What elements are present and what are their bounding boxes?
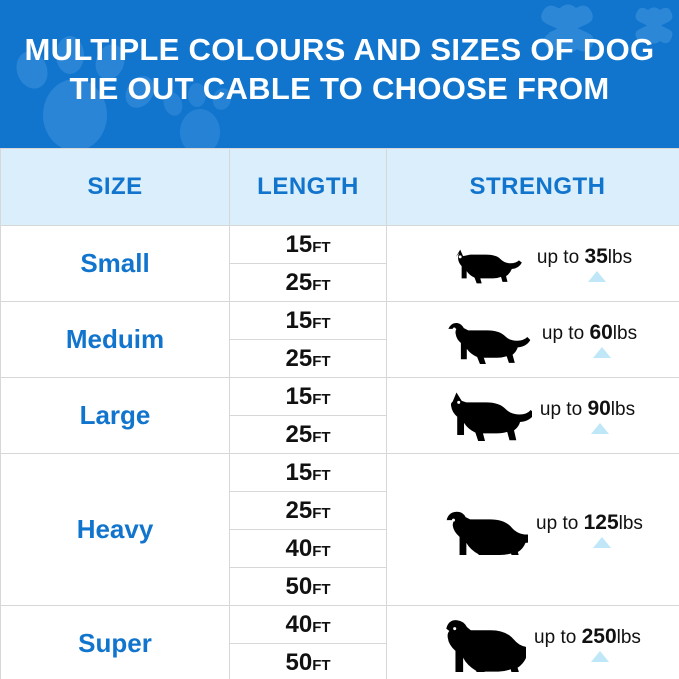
arrow-holder	[537, 269, 632, 282]
length-unit: FT	[312, 239, 330, 256]
strength-cell-heavy: up to 125lbs	[387, 454, 679, 606]
strength-prefix: up to	[536, 513, 584, 534]
length-value: 15	[285, 307, 312, 334]
strength-cell-small: up to 35lbs	[387, 226, 679, 302]
table-row: Small 15FT up to 35lbs	[1, 226, 679, 264]
size-label-small: Small	[1, 226, 230, 302]
strength-prefix: up to	[534, 627, 582, 648]
length-unit: FT	[312, 353, 330, 370]
table-header-row: SIZE LENGTH STRENGTH	[1, 149, 679, 226]
arrow-up-icon	[588, 271, 606, 282]
length-unit: FT	[312, 391, 330, 408]
length-cell: 15FT	[230, 378, 387, 416]
strength-unit: lbs	[608, 247, 632, 268]
header-banner: MULTIPLE COLOURS AND SIZES OF DOG TIE OU…	[0, 0, 679, 148]
strength-unit: lbs	[611, 399, 635, 420]
length-cell: 25FT	[230, 416, 387, 454]
table-row: Heavy 15FT up to 125lbs	[1, 454, 679, 492]
strength-text: up to 60lbs	[542, 321, 637, 345]
length-value: 15	[285, 231, 312, 258]
strength-unit: lbs	[613, 323, 637, 344]
strength-weight: 90	[587, 397, 610, 420]
length-cell: 25FT	[230, 340, 387, 378]
length-value: 25	[285, 421, 312, 448]
length-value: 15	[285, 459, 312, 486]
infographic-page: MULTIPLE COLOURS AND SIZES OF DOG TIE OU…	[0, 0, 679, 679]
medium-dog-icon	[438, 316, 534, 364]
strength-prefix: up to	[540, 399, 588, 420]
size-label-super: Super	[1, 606, 230, 679]
strength-value-wrap: up to 60lbs	[542, 321, 637, 358]
column-header-size: SIZE	[1, 149, 230, 226]
table-head: SIZE LENGTH STRENGTH	[1, 149, 679, 226]
strength-weight: 60	[589, 321, 612, 344]
strength-unit: lbs	[617, 627, 641, 648]
strength-weight: 35	[584, 245, 607, 268]
length-unit: FT	[312, 505, 330, 522]
length-cell: 40FT	[230, 606, 387, 644]
strength-cell-super: up to 250lbs	[387, 606, 679, 679]
length-unit: FT	[312, 619, 330, 636]
length-cell: 15FT	[230, 454, 387, 492]
arrow-holder	[536, 535, 643, 548]
table-body: Small 15FT up to 35lbs	[1, 226, 679, 679]
length-value: 50	[285, 649, 312, 676]
strength-cell-large: up to 90lbs	[387, 378, 679, 454]
length-cell: 25FT	[230, 492, 387, 530]
table-row: Large 15FT up to 90lbs	[1, 378, 679, 416]
strength-unit: lbs	[619, 513, 643, 534]
strength-value-wrap: up to 125lbs	[536, 511, 643, 548]
size-label-large: Large	[1, 378, 230, 454]
strength-text: up to 250lbs	[534, 625, 641, 649]
strength-value-wrap: up to 90lbs	[540, 397, 635, 434]
length-unit: FT	[312, 657, 330, 674]
length-cell: 50FT	[230, 568, 387, 606]
length-cell: 25FT	[230, 264, 387, 302]
strength-weight: 250	[582, 625, 617, 648]
length-unit: FT	[312, 467, 330, 484]
strength-text: up to 90lbs	[540, 397, 635, 421]
length-unit: FT	[312, 543, 330, 560]
arrow-holder	[534, 649, 641, 662]
length-value: 25	[285, 345, 312, 372]
column-header-length: LENGTH	[230, 149, 387, 226]
length-unit: FT	[312, 581, 330, 598]
table-row: Super 40FT up to 250lbs	[1, 606, 679, 644]
length-cell: 50FT	[230, 644, 387, 679]
length-cell: 15FT	[230, 226, 387, 264]
length-value: 50	[285, 573, 312, 600]
large-dog-icon	[440, 391, 532, 441]
length-unit: FT	[312, 277, 330, 294]
strength-cell-meduim: up to 60lbs	[387, 302, 679, 378]
length-value: 40	[285, 611, 312, 638]
length-unit: FT	[312, 429, 330, 446]
arrow-up-icon	[593, 347, 611, 358]
strength-text: up to 125lbs	[536, 511, 643, 535]
arrow-holder	[540, 421, 635, 434]
column-header-strength: STRENGTH	[387, 149, 679, 226]
strength-text: up to 35lbs	[537, 245, 632, 269]
arrow-up-icon	[591, 423, 609, 434]
heavy-dog-icon	[432, 505, 528, 555]
strength-value-wrap: up to 250lbs	[534, 625, 641, 662]
strength-prefix: up to	[542, 323, 590, 344]
length-cell: 40FT	[230, 530, 387, 568]
strength-prefix: up to	[537, 247, 585, 268]
super-dog-icon	[434, 616, 526, 672]
strength-weight: 125	[584, 511, 619, 534]
arrow-up-icon	[593, 537, 611, 548]
length-unit: FT	[312, 315, 330, 332]
length-value: 25	[285, 497, 312, 524]
strength-value-wrap: up to 35lbs	[537, 245, 632, 282]
length-value: 40	[285, 535, 312, 562]
table-row: Meduim 15FT up to 60lbs	[1, 302, 679, 340]
size-label-meduim: Meduim	[1, 302, 230, 378]
arrow-holder	[542, 345, 637, 358]
small-dog-icon	[443, 242, 529, 286]
page-title: MULTIPLE COLOURS AND SIZES OF DOG TIE OU…	[0, 30, 679, 108]
length-value: 25	[285, 269, 312, 296]
length-cell: 15FT	[230, 302, 387, 340]
length-value: 15	[285, 383, 312, 410]
size-chart-table: SIZE LENGTH STRENGTH Small 15FT	[0, 148, 679, 679]
arrow-up-icon	[591, 651, 609, 662]
size-label-heavy: Heavy	[1, 454, 230, 606]
